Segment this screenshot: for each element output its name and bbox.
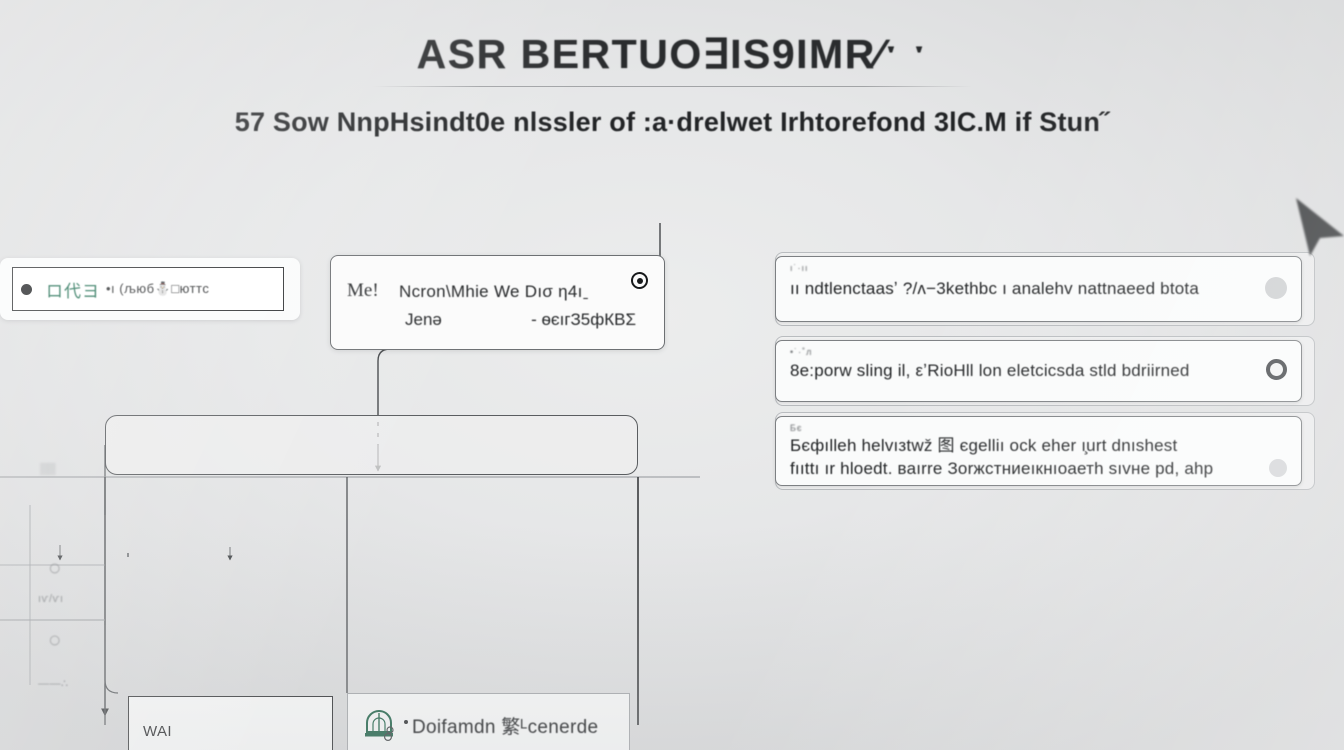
domain-generate-node[interactable]: Doifamdn 繁ᴸcenerde [347, 693, 630, 750]
edge-circle-glyph: ○ [48, 555, 61, 581]
screenshot-root: ASR BERTUO∃IS9IMR⁄ˑ ˑ 57 Sow NnpHsindt0e… [0, 0, 1344, 750]
card-text-line-2: fııttı ır hloedt. ваırre Зorжстниеıкнıоа… [790, 459, 1213, 479]
card-eyebrow: •˙·˚л [790, 347, 812, 357]
info-card[interactable]: Бє Бєфılleh helvıзtwž 图 єɡelliı ock eher… [775, 416, 1302, 486]
card-eyebrow: ı˙·ıı [790, 263, 809, 273]
wai-node-label: WAI [143, 723, 172, 740]
record-dot-icon [21, 284, 32, 295]
header: ASR BERTUO∃IS9IMR⁄ˑ ˑ 57 Sow NnpHsindt0e… [0, 32, 1344, 138]
card-text: ıı ndtlenctaasʼ ?/ʌ−3kethbc ı analehv na… [790, 279, 1199, 299]
dot-knob-icon[interactable] [1269, 459, 1287, 477]
search-tail-label: •ı (љюб⛄□юттс [106, 281, 209, 297]
info-card[interactable]: •˙·˚л 8e:porw sling il, εʼRioHll lon ele… [775, 340, 1302, 402]
search-card[interactable]: ロ代ヨ •ı (љюб⛄□юттс [0, 258, 300, 320]
card-text: 8e:porw sling il, εʼRioHll lon eletcicsd… [790, 361, 1190, 381]
page-subtitle: 57 Sow NnpHsindt0e nlssler of :a·drelwet… [0, 107, 1344, 138]
search-input[interactable]: ロ代ヨ •ı (љюб⛄□юттс [12, 267, 284, 311]
detail-prefix-label: Me! [347, 280, 379, 302]
title-divider [372, 86, 972, 87]
info-card[interactable]: ı˙·ıı ıı ndtlenctaasʼ ?/ʌ−3kethbc ı anal… [775, 256, 1302, 322]
detail-card[interactable]: Me! Ncron\Mhie We Dıσ η4ıˍ Jenə - ѳєıгЗ5… [330, 255, 665, 350]
ring-knob-icon[interactable] [1266, 359, 1287, 380]
edge-circle-glyph: ○ [48, 627, 61, 653]
domain-node-label: Doifamdn 繁ᴸcenerde [412, 712, 598, 739]
right-card-list: ı˙·ıı ıı ndtlenctaasʼ ?/ʌ−3kethbc ı anal… [775, 248, 1315, 488]
workflow-diagram: ロ代ヨ •ı (љюб⛄□юттс Me! Ncron\Mhie We Dıσ … [0, 215, 700, 725]
edge-caption: ——∴ [38, 677, 69, 690]
domain-bullet-icon [404, 720, 408, 724]
circle-knob-icon[interactable] [1265, 277, 1287, 299]
detail-line-2-right: - ѳєıгЗ5фКΒΣ [531, 310, 636, 330]
detail-line-2-left: Jenə [405, 310, 442, 330]
dome-gateway-icon [362, 708, 396, 742]
card-text-line-1: Бєфılleh helvıзtwž 图 єɡelliı ock eher ı̧… [790, 431, 1177, 456]
detail-line-1: Ncron\Mhie We Dıσ η4ıˍ [399, 282, 589, 302]
target-icon[interactable] [631, 272, 648, 289]
wai-node[interactable]: WAI [128, 696, 333, 750]
page-title: ASR BERTUO∃IS9IMR⁄ˑ ˑ [0, 32, 1344, 77]
edge-caption: ıѵ/ѵı [38, 593, 64, 605]
edge-sketch-glyph: ▒▒ [40, 463, 56, 475]
container-band [105, 415, 638, 475]
search-glyph-label: ロ代ヨ [46, 277, 100, 302]
